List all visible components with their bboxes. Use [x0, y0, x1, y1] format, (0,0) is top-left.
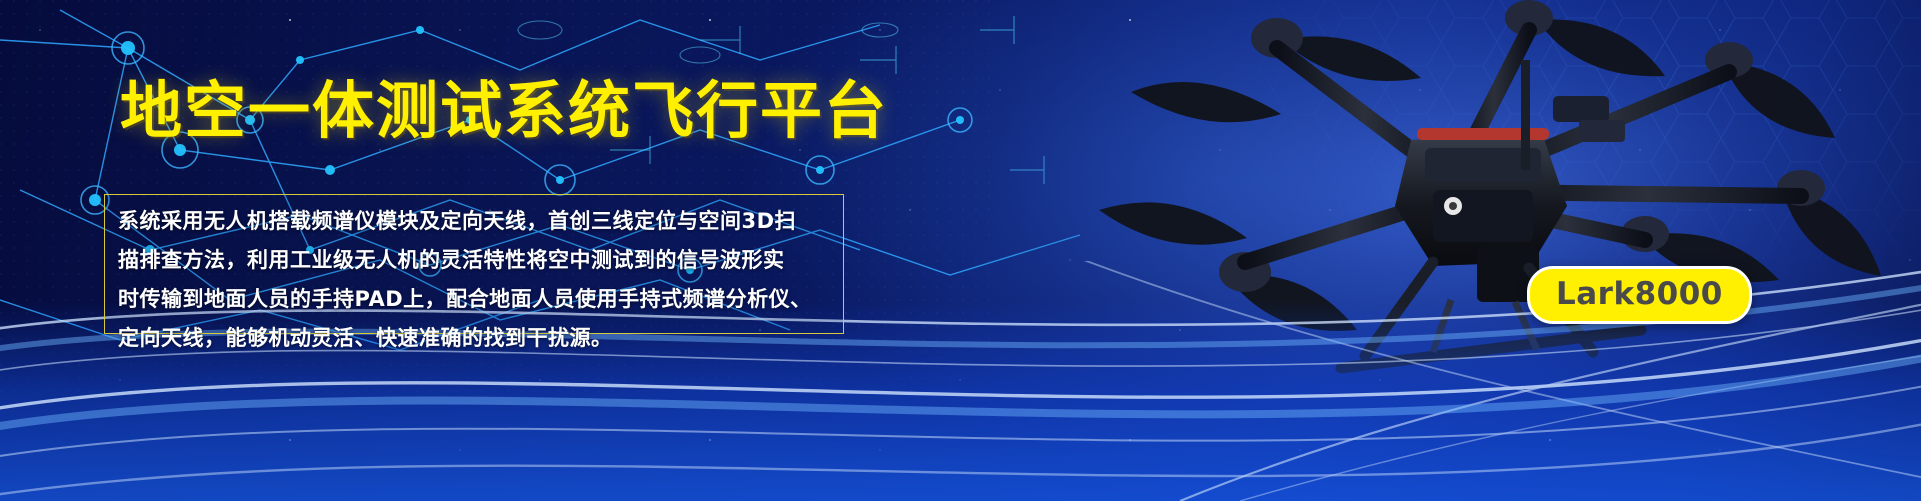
description-line-3: 时传输到地面人员的手持PAD上，配合地面人员使用手持式频谱分析仪、 [118, 280, 848, 319]
hero-banner: 地空一体测试系统飞行平台 系统采用无人机搭载频谱仪模块及定向天线，首创三线定位与… [0, 0, 1921, 501]
page-title: 地空一体测试系统飞行平台 [120, 78, 888, 143]
description-line-4: 定向天线，能够机动灵活、快速准确的找到干扰源。 [118, 319, 848, 358]
description-line-1: 系统采用无人机搭载频谱仪模块及定向天线，首创三线定位与空间3D扫 [118, 202, 848, 241]
description-line-2: 描排查方法，利用工业级无人机的灵活特性将空中测试到的信号波形实 [118, 241, 848, 280]
description-text: 系统采用无人机搭载频谱仪模块及定向天线，首创三线定位与空间3D扫 描排查方法，利… [118, 202, 848, 358]
product-badge: Lark8000 [1527, 266, 1752, 324]
